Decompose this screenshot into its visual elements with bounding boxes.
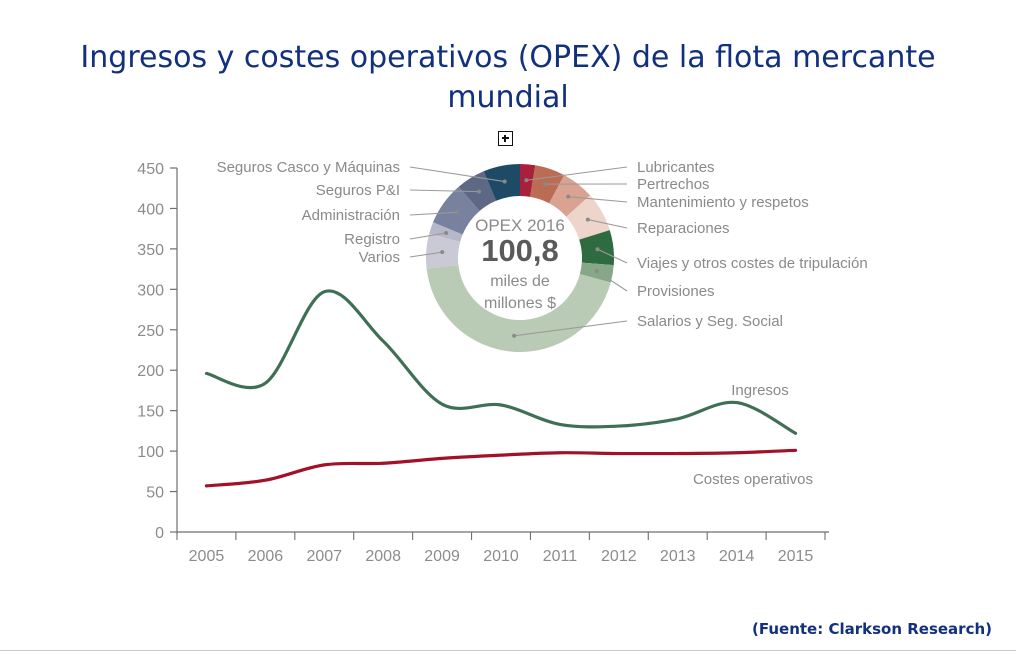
- x-axis: 2005200620072008200920102011201220132014…: [177, 532, 829, 565]
- y-tick-label: 0: [155, 525, 164, 542]
- x-tick-label: 2005: [189, 548, 225, 565]
- donut-label: Mantenimiento y respetos: [637, 194, 809, 211]
- donut-label: Varios: [359, 249, 400, 266]
- donut-label: Viajes y otros costes de tripulación: [637, 255, 868, 272]
- leader-dot: [455, 210, 459, 214]
- donut-label: Lubricantes: [637, 159, 715, 176]
- y-tick-label: 450: [137, 161, 164, 178]
- donut-label: Administración: [302, 207, 400, 224]
- leader-dot: [595, 269, 599, 273]
- leader-dot: [596, 247, 600, 251]
- series-label-ingresos: Ingresos: [731, 382, 789, 399]
- bottom-divider: [0, 650, 1016, 651]
- x-tick-label: 2009: [424, 548, 460, 565]
- x-tick-label: 2008: [365, 548, 401, 565]
- y-tick-label: 300: [137, 282, 164, 299]
- donut-center-sub1: miles de: [490, 273, 550, 290]
- x-tick-label: 2010: [483, 548, 519, 565]
- leader-dot: [512, 334, 516, 338]
- leader-dot: [477, 190, 481, 194]
- x-tick-label: 2012: [601, 548, 637, 565]
- leader-dot: [503, 180, 507, 184]
- x-tick-label: 2014: [719, 548, 755, 565]
- y-tick-label: 100: [137, 444, 164, 461]
- series-labels: IngresosCostes operativos: [693, 382, 813, 488]
- donut-label: Provisiones: [637, 283, 715, 300]
- leader-dot: [543, 182, 547, 186]
- y-axis: 050100150200250300350400450: [137, 161, 177, 542]
- y-tick-label: 150: [137, 404, 164, 421]
- source-note: (Fuente: Clarkson Research): [752, 620, 992, 638]
- y-tick-label: 200: [137, 363, 164, 380]
- donut-label: Seguros P&I: [316, 182, 400, 199]
- donut-chart: OPEX 2016100,8miles demillones $: [426, 164, 614, 352]
- leader-dot: [586, 218, 590, 222]
- chart-figure: 050100150200250300350400450 200520062007…: [0, 0, 1016, 600]
- x-tick-label: 2015: [778, 548, 814, 565]
- x-tick-label: 2011: [543, 548, 578, 565]
- donut-label: Salarios y Seg. Social: [637, 313, 783, 330]
- x-tick-label: 2007: [306, 548, 342, 565]
- donut-label: Pertrechos: [637, 176, 710, 193]
- leader-dot: [524, 178, 528, 182]
- donut-label: Seguros Casco y Máquinas: [217, 159, 400, 176]
- donut-label: Registro: [344, 231, 400, 248]
- x-tick-label: 2013: [660, 548, 696, 565]
- y-tick-label: 350: [137, 242, 164, 259]
- leader-dot: [440, 250, 444, 254]
- x-tick-label: 2006: [248, 548, 284, 565]
- series-label-costes: Costes operativos: [693, 471, 813, 488]
- donut-center-sub2: millones $: [484, 295, 556, 312]
- y-tick-label: 50: [146, 485, 164, 502]
- donut-center-value: 100,8: [481, 233, 559, 268]
- leader-dot: [444, 231, 448, 235]
- leader-dot: [566, 195, 570, 199]
- donut-label: Reparaciones: [637, 220, 730, 237]
- y-tick-label: 400: [137, 201, 164, 218]
- y-tick-label: 250: [137, 323, 164, 340]
